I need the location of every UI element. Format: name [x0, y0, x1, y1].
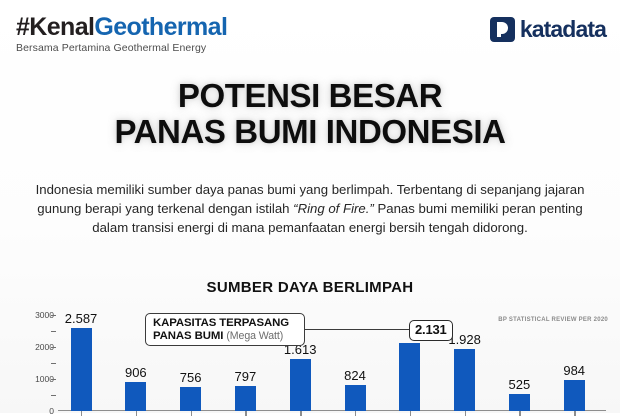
callout-box: KAPASITAS TERPASANG PANAS BUMI (Mega Wat… — [145, 313, 305, 346]
bar-value-label: 756 — [180, 370, 202, 385]
callout-line-2-text: PANAS BUMI — [153, 330, 223, 342]
chart-heading: SUMBER DAYA BERLIMPAH — [0, 279, 620, 296]
bar-value-label: 525 — [509, 377, 531, 392]
chart-bar — [509, 394, 530, 411]
chart-bar — [71, 328, 92, 411]
callout-connector-line — [305, 329, 414, 330]
katadata-logo: katadata — [490, 17, 606, 42]
y-axis-tick-mark — [51, 347, 56, 348]
bar-value-label: 984 — [563, 363, 585, 378]
x-axis-tick — [81, 411, 82, 416]
title-line-1: POTENSI BESAR — [0, 78, 620, 114]
bar-chart: BP STATISTICAL REVIEW PER 2020 010002000… — [0, 305, 620, 413]
bar-value-label: 824 — [344, 368, 366, 383]
brand-logo: #KenalGeothermal Bersama Pertamina Geoth… — [16, 14, 227, 54]
x-axis-tick — [191, 411, 192, 416]
y-axis-tick-mark — [51, 315, 56, 316]
callout-unit: (Mega Watt) — [226, 330, 283, 342]
x-axis-tick — [410, 411, 411, 416]
y-axis-tick-mark — [51, 379, 56, 380]
bar-value-label: 2.587 — [65, 311, 98, 326]
chart-bar — [180, 387, 201, 411]
x-axis-tick — [574, 411, 575, 416]
x-axis-tick — [355, 411, 356, 416]
paragraph-quote: “Ring of Fire.” — [293, 201, 374, 216]
title-line-2: PANAS BUMI INDONESIA — [0, 114, 620, 150]
highlighted-value-badge: 2.131 — [409, 320, 453, 341]
chart-bar — [399, 343, 420, 411]
page-title: POTENSI BESAR PANAS BUMI INDONESIA — [0, 78, 620, 150]
y-axis-tick-label: 0 — [49, 406, 54, 416]
bar-value-label: 906 — [125, 365, 147, 380]
callout-line-1: KAPASITAS TERPASANG — [153, 317, 298, 330]
chart-bar — [235, 386, 256, 412]
x-axis-tick — [300, 411, 301, 416]
y-axis-minor-tick — [51, 331, 56, 332]
katadata-d-icon — [490, 17, 515, 42]
chart-bar — [564, 380, 585, 411]
x-axis-tick — [465, 411, 466, 416]
x-axis-tick — [245, 411, 246, 416]
x-axis-tick — [519, 411, 520, 416]
infographic-page: #KenalGeothermal Bersama Pertamina Geoth… — [0, 0, 620, 413]
x-axis-tick — [136, 411, 137, 416]
brand-tagline: Bersama Pertamina Geothermal Energy — [16, 42, 227, 54]
callout-line-2: PANAS BUMI (Mega Watt) — [153, 330, 298, 343]
chart-bar — [125, 382, 146, 411]
y-axis-minor-tick — [51, 395, 56, 396]
katadata-wordmark: katadata — [520, 18, 606, 41]
intro-paragraph: Indonesia memiliki sumber daya panas bum… — [24, 180, 596, 237]
brand-prefix: #Kenal — [16, 13, 94, 41]
brand-suffix: Geothermal — [94, 13, 227, 41]
header: #KenalGeothermal Bersama Pertamina Geoth… — [0, 0, 620, 62]
bar-value-label: 797 — [235, 369, 257, 384]
chart-bar — [454, 349, 475, 411]
chart-bar — [345, 385, 366, 411]
brand-wordmark: #KenalGeothermal — [16, 14, 227, 40]
bar-value-label: 1.928 — [448, 332, 481, 347]
chart-bar — [290, 359, 311, 411]
y-axis-minor-tick — [51, 363, 56, 364]
